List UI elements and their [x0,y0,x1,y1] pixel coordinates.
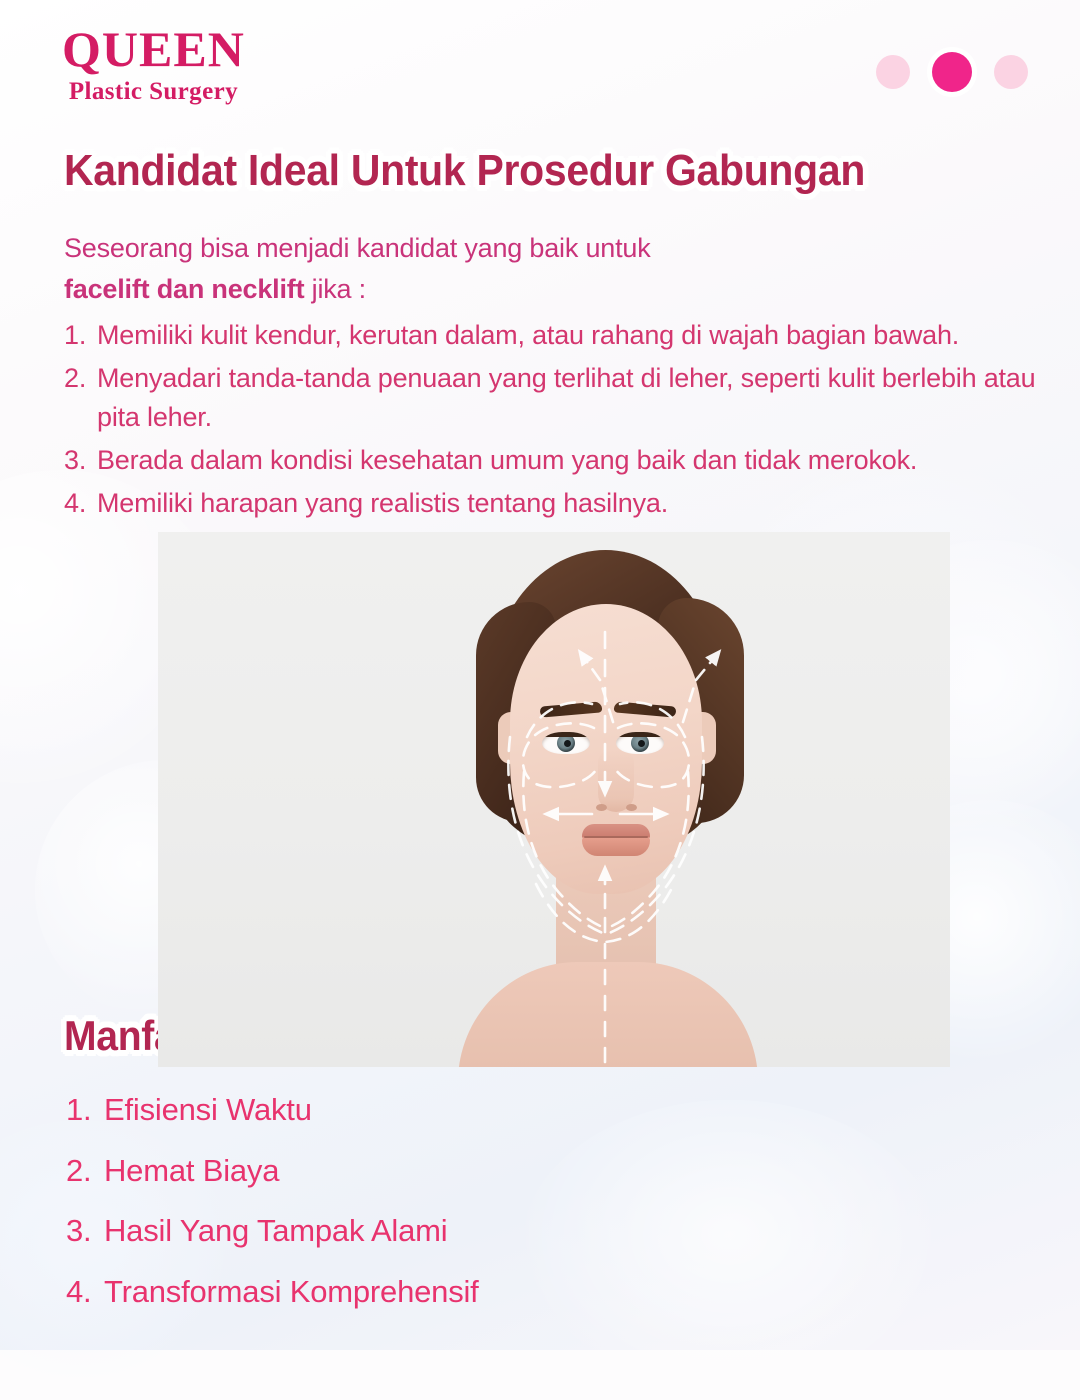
list-item-number: 3. [66,1211,104,1251]
intro-paragraph: Seseorang bisa menjadi kandidat yang bai… [64,228,1054,310]
brand-subtitle: Plastic Surgery [62,78,245,106]
intro-line-2-rest: jika : [304,274,366,304]
list-item: 3. Hasil Yang Tampak Alami [66,1211,966,1251]
list-item-number: 1. [66,1090,104,1130]
list-item-text: Hemat Biaya [104,1151,279,1191]
intro-bold-term: facelift dan necklift [64,274,304,304]
list-item-number: 3. [64,441,97,479]
criteria-list: 1. Memiliki kulit kendur, kerutan dalam,… [64,316,1064,528]
list-item-number: 2. [66,1151,104,1191]
list-item-number: 4. [66,1272,104,1312]
list-item-text: Memiliki harapan yang realistis tentang … [97,484,1064,522]
list-item: 4. Transformasi Komprehensif [66,1272,966,1312]
lift-direction-arrows-overlay [158,532,950,1067]
list-item-number: 4. [64,484,97,522]
header-dot-group [876,52,1028,92]
list-item: 4. Memiliki harapan yang realistis tenta… [64,484,1064,522]
list-item-number: 1. [64,316,97,354]
page-title-primary: Kandidat Ideal Untuk Prosedur Gabungan [64,146,865,196]
brand-name: QUEEN [62,24,245,74]
list-item: 2. Menyadari tanda-tanda penuaan yang te… [64,359,1064,436]
pink-dot-accent-icon [932,52,972,92]
list-item: 1. Efisiensi Waktu [66,1090,966,1130]
benefits-list: 1. Efisiensi Waktu 2. Hemat Biaya 3. Has… [66,1090,966,1333]
list-item-text: Berada dalam kondisi kesehatan umum yang… [97,441,1064,479]
list-item-text: Transformasi Komprehensif [104,1272,479,1312]
intro-line-1: Seseorang bisa menjadi kandidat yang bai… [64,228,1054,269]
pink-dot-icon [994,55,1028,89]
list-item: 3. Berada dalam kondisi kesehatan umum y… [64,441,1064,479]
brand-logo: QUEEN Plastic Surgery [62,24,245,106]
list-item-number: 2. [64,359,97,436]
list-item-text: Hasil Yang Tampak Alami [104,1211,447,1251]
list-item-text: Efisiensi Waktu [104,1090,312,1130]
facelift-diagram-photo [158,532,950,1067]
list-item: 2. Hemat Biaya [66,1151,966,1191]
list-item-text: Menyadari tanda-tanda penuaan yang terli… [97,359,1064,436]
pink-dot-icon [876,55,910,89]
list-item-text: Memiliki kulit kendur, kerutan dalam, at… [97,316,1064,354]
list-item: 1. Memiliki kulit kendur, kerutan dalam,… [64,316,1064,354]
intro-line-2: facelift dan necklift jika : [64,269,1054,310]
